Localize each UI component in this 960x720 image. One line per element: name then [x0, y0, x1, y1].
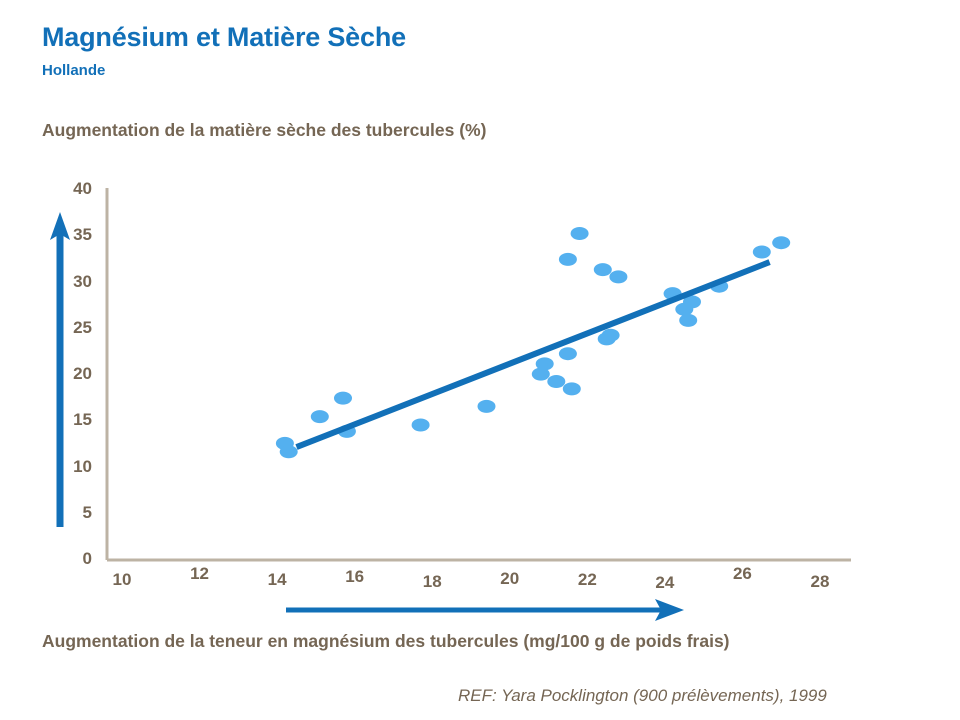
x-axis-tick-label: 22	[567, 570, 607, 590]
data-point	[547, 375, 565, 388]
data-point	[412, 419, 430, 432]
data-point	[571, 227, 589, 240]
x-axis-direction-arrow	[286, 599, 684, 621]
x-axis-tick-label: 14	[257, 570, 297, 590]
data-point	[609, 270, 627, 283]
data-point	[559, 347, 577, 360]
y-axis-tick-label: 0	[48, 549, 92, 569]
data-point	[532, 368, 550, 381]
scatter-plot: 0510152025303540 10121416182022242628	[0, 0, 960, 720]
y-axis-tick-label: 20	[48, 364, 92, 384]
data-point	[311, 410, 329, 423]
data-point	[772, 236, 790, 249]
x-axis-tick-label: 24	[645, 573, 685, 593]
y-axis-tick-label: 25	[48, 318, 92, 338]
data-point	[753, 246, 771, 259]
x-axis-tick-label: 26	[722, 564, 762, 584]
x-axis-tick-label: 12	[180, 564, 220, 584]
data-point	[563, 382, 581, 395]
y-axis-tick-label: 10	[48, 457, 92, 477]
x-axis-tick-label: 10	[102, 570, 142, 590]
x-axis-tick-label: 18	[412, 572, 452, 592]
data-point	[594, 263, 612, 276]
data-point	[598, 332, 616, 345]
y-axis-tick-label: 35	[48, 225, 92, 245]
y-axis-tick-label: 40	[48, 179, 92, 199]
chart-page: Magnésium et Matière Sèche Hollande Augm…	[0, 0, 960, 720]
data-point	[478, 400, 496, 413]
reference-note: REF: Yara Pocklington (900 prélèvements)…	[458, 686, 827, 706]
x-axis-tick-label: 16	[335, 567, 375, 587]
data-point	[559, 253, 577, 266]
data-point	[280, 445, 298, 458]
trend-line	[297, 262, 770, 447]
y-axis-tick-label: 30	[48, 272, 92, 292]
plot-canvas	[0, 0, 960, 720]
x-axis-tick-label: 28	[800, 572, 840, 592]
y-axis-tick-label: 15	[48, 410, 92, 430]
data-point	[675, 303, 693, 316]
data-point	[334, 392, 352, 405]
data-point	[679, 314, 697, 327]
y-axis-tick-label: 5	[48, 503, 92, 523]
x-axis-tick-label: 20	[490, 569, 530, 589]
